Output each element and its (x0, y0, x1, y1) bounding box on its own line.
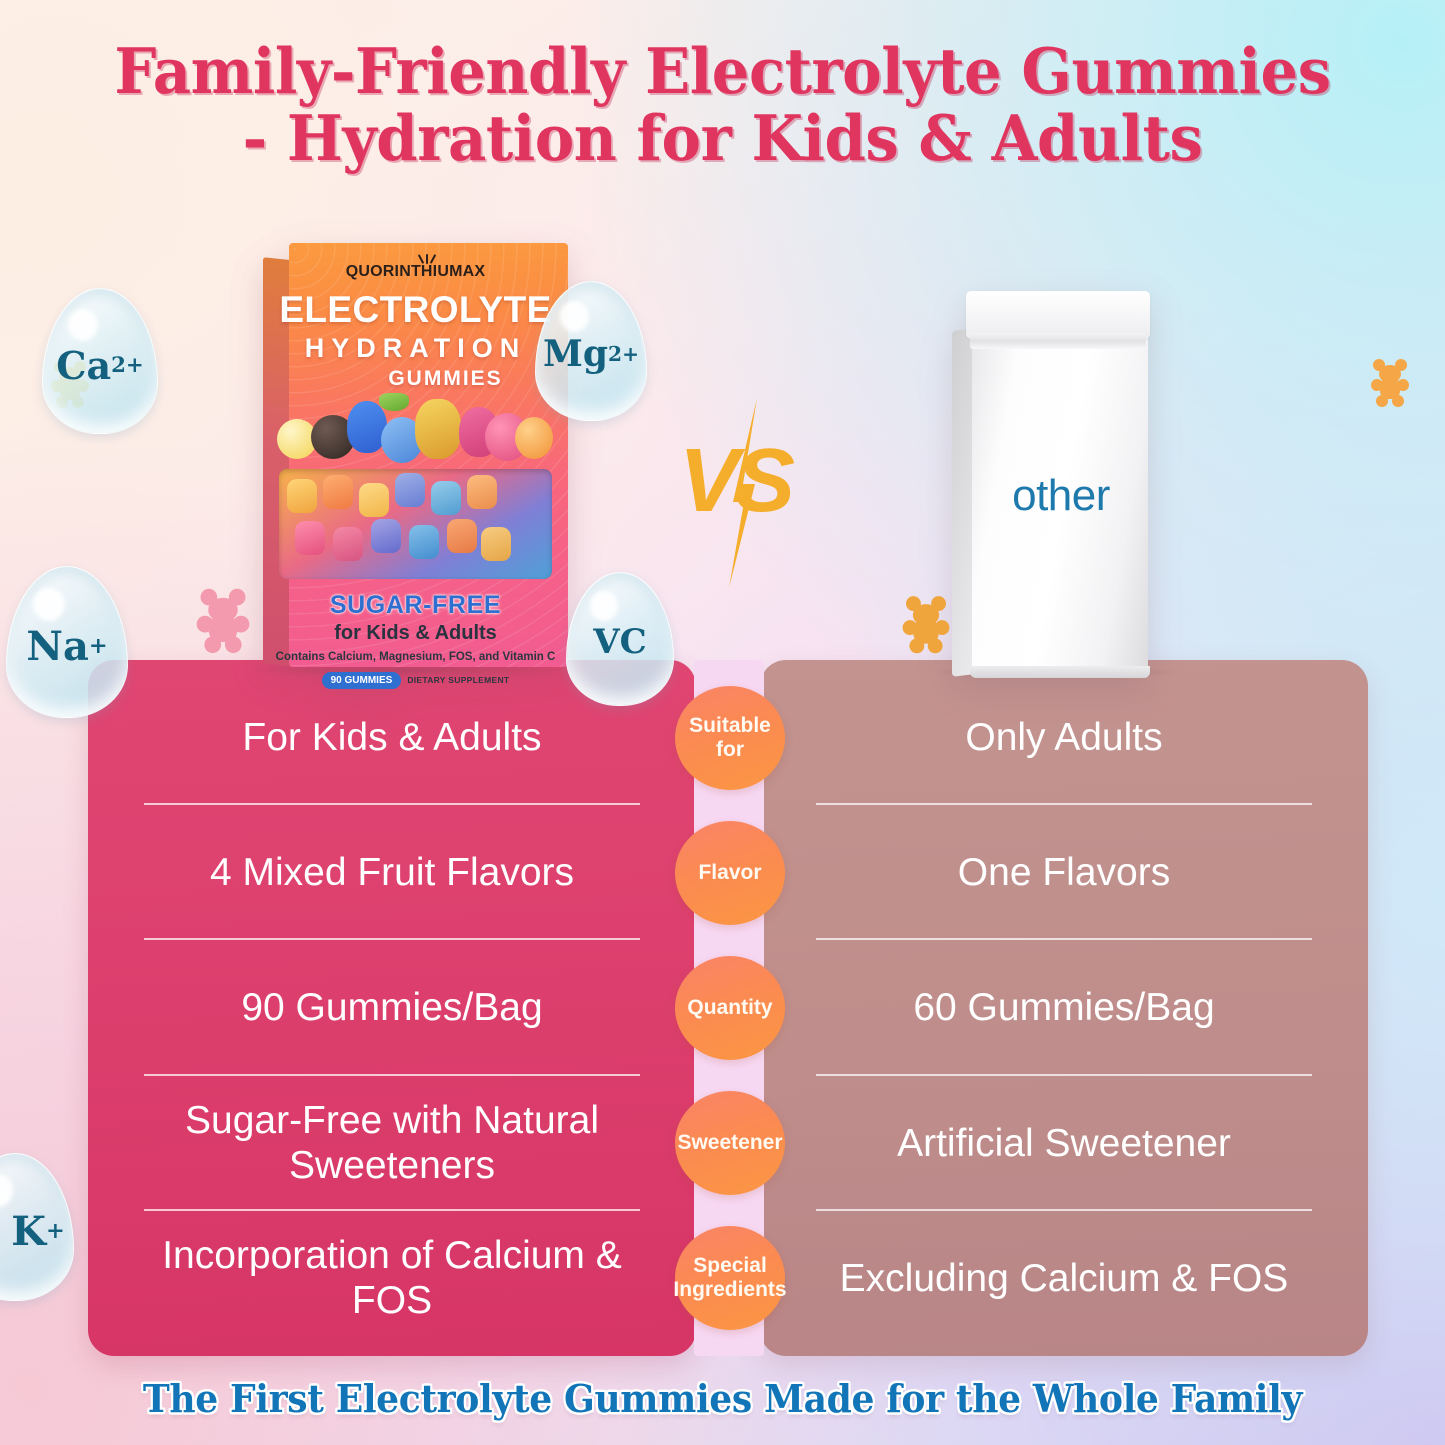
product-package: QUORINTHIUMAX ELECTROLYTE HYDRATION GUMM… (263, 243, 568, 675)
audience-label: for Kids & Adults (263, 622, 568, 645)
criteria-cell: Flavor (675, 805, 785, 940)
criteria-suitable-for: Suitable for (675, 686, 785, 790)
page-title: Family-Friendly Electrolyte Gummies - Hy… (43, 38, 1401, 173)
criteria-flavor: Flavor (675, 821, 785, 925)
criteria-labels: Suitable for Flavor Quantity Sweetener S… (675, 660, 785, 1356)
competitor-feature-suitable-for: Only Adults (760, 670, 1368, 805)
ion-label-mg: Mg2+ (535, 281, 647, 421)
package-window (279, 469, 552, 579)
our-feature-flavor: 4 Mixed Fruit Flavors (88, 805, 696, 940)
our-feature-special-ingredients: Incorporation of Calcium & FOS (88, 1211, 696, 1346)
sugar-free-label: SUGAR-FREE (263, 591, 568, 620)
gummy-bear-orange-icon (1369, 356, 1411, 408)
criteria-quantity: Quantity (675, 956, 785, 1060)
package-title: ELECTROLYTE HYDRATION GUMMIES (263, 289, 568, 391)
ion-charge-mg: 2+ (608, 342, 639, 366)
package-title-line-3: GUMMIES (263, 367, 568, 391)
pouch-top-seal (966, 291, 1150, 339)
count-badge: 90 GUMMIES DIETARY SUPPLEMENT (322, 672, 510, 689)
criteria-cell: Quantity (675, 940, 785, 1075)
pouch-base (970, 666, 1150, 678)
versus-mark: VS (655, 398, 815, 588)
gummy-bear-pink-icon (196, 584, 250, 654)
ion-charge-k: + (46, 1218, 65, 1244)
criteria-cell: Special Ingredients (675, 1211, 785, 1346)
ion-label-vc: VC (566, 572, 674, 706)
competitor-feature-sweetener: Artificial Sweetener (760, 1076, 1368, 1211)
criteria-sweetener: Sweetener (675, 1091, 785, 1195)
lightning-bolt-icon (727, 398, 761, 588)
brand-logo: QUORINTHIUMAX (263, 263, 568, 281)
ion-charge-na: + (89, 633, 108, 659)
criteria-special-ingredients: Special Ingredients (675, 1226, 785, 1330)
pouch-zipper (970, 333, 1146, 349)
fruit-illustrations (269, 393, 562, 469)
ion-label-ca: Ca2+ (42, 288, 158, 434)
competitor-feature-special-ingredients: Excluding Calcium & FOS (760, 1211, 1368, 1346)
criteria-cell: Suitable for (675, 670, 785, 805)
supplement-note: DIETARY SUPPLEMENT (407, 675, 509, 685)
ion-droplet-vitamin-c: VC (566, 572, 674, 706)
competitor-feature-list: Only Adults One Flavors 60 Gummies/Bag A… (760, 660, 1368, 1356)
ion-droplet-calcium: Ca2+ (42, 288, 158, 434)
competitor-label: other (976, 471, 1146, 521)
ion-droplet-magnesium: Mg2+ (535, 281, 647, 421)
ion-charge-ca: 2+ (111, 353, 144, 378)
headline-line-2: - Hydration for Kids & Adults (43, 105, 1401, 172)
gummy-count-badge: 90 GUMMIES (322, 672, 402, 689)
ion-droplet-potassium: K+ (0, 1153, 74, 1301)
competitor-panel: Only Adults One Flavors 60 Gummies/Bag A… (760, 660, 1368, 1356)
criteria-cell: Sweetener (675, 1076, 785, 1211)
our-feature-sweetener: Sugar-Free with Natural Sweeteners (88, 1076, 696, 1211)
our-product-panel: For Kids & Adults 4 Mixed Fruit Flavors … (88, 660, 696, 1356)
gummy-bear-amber-icon (902, 592, 950, 654)
package-bottom-block: SUGAR-FREE for Kids & Adults Contains Ca… (263, 591, 568, 689)
package-title-line-1: ELECTROLYTE (263, 289, 568, 331)
our-feature-list: For Kids & Adults 4 Mixed Fruit Flavors … (88, 660, 696, 1356)
headline-line-1: Family-Friendly Electrolyte Gummies (114, 34, 1330, 108)
contains-label: Contains Calcium, Magnesium, FOS, and Vi… (263, 650, 568, 666)
ion-label-k: K+ (0, 1153, 74, 1301)
competitor-package: other (952, 283, 1148, 675)
ion-droplet-sodium: Na+ (6, 566, 128, 718)
footer-tagline: The First Electrolyte Gummies Made for t… (36, 1376, 1409, 1421)
infographic-stage: Family-Friendly Electrolyte Gummies - Hy… (0, 0, 1445, 1445)
competitor-feature-flavor: One Flavors (760, 805, 1368, 940)
ion-label-na: Na+ (6, 566, 128, 718)
package-title-line-2: HYDRATION (263, 333, 568, 364)
our-feature-quantity: 90 Gummies/Bag (88, 940, 696, 1075)
competitor-feature-quantity: 60 Gummies/Bag (760, 940, 1368, 1075)
